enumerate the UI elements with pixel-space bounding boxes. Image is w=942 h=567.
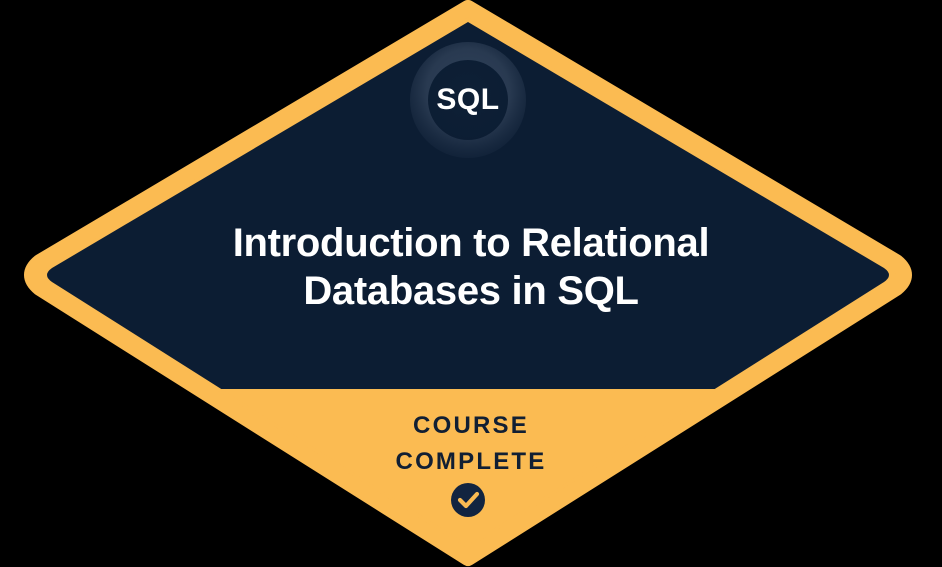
check-circle-icon xyxy=(451,483,485,517)
badge-interior xyxy=(0,0,942,567)
badge-lower-fill xyxy=(0,389,942,567)
sql-ring-emblem-icon xyxy=(410,42,526,158)
badge-shape xyxy=(0,0,942,567)
course-completion-badge: SQL Introduction to Relational Databases… xyxy=(0,0,942,567)
